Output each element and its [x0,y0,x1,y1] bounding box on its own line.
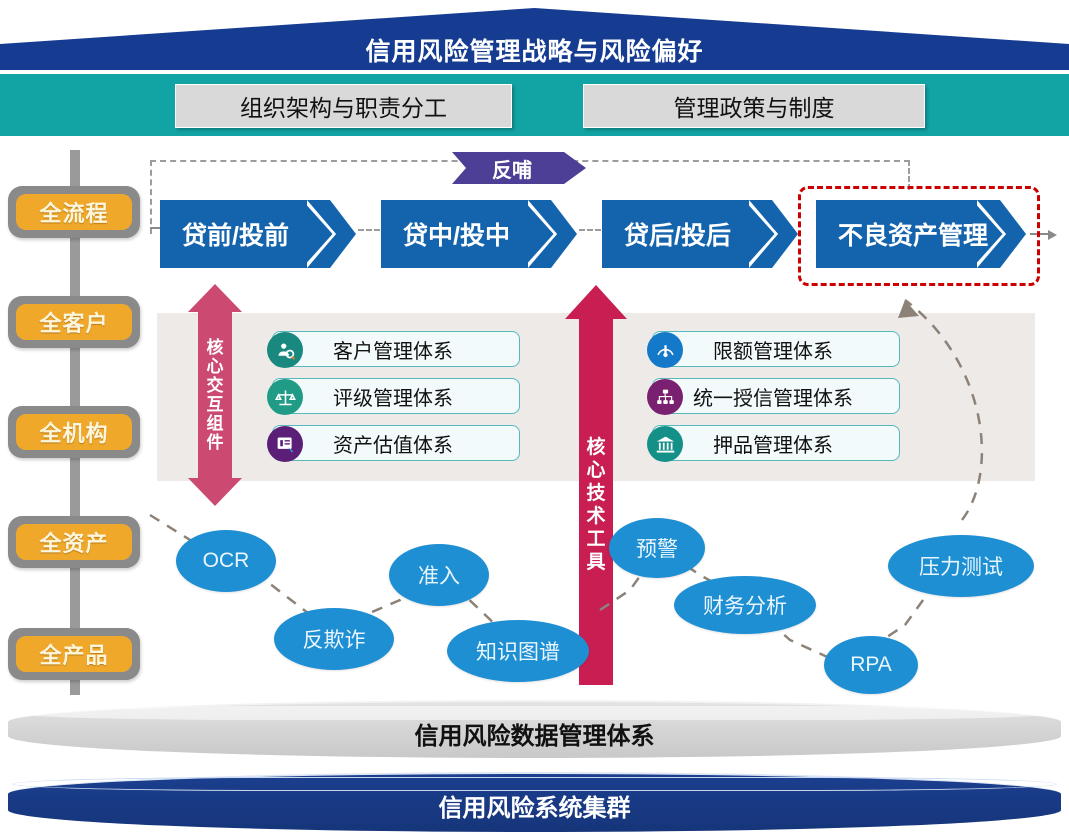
document-valuation-icon [267,426,303,462]
component-limit-management[interactable]: 限额管理体系 [652,331,900,367]
strategy-roof: 信用风险管理战略与风险偏好 [0,8,1069,70]
flow-stage-during-lending[interactable]: 贷中/投中 [381,200,577,268]
chevron-notch-icon [749,200,778,268]
component-label: 押品管理体系 [653,429,899,458]
roof-title: 信用风险管理战略与风险偏好 [0,32,1069,68]
governance-box-policy[interactable]: 管理政策与制度 [583,84,925,128]
tech-tool-stress-test[interactable]: 压力测试 [888,535,1034,597]
flow-stage-post-lending[interactable]: 贷后/投后 [602,200,798,268]
component-label: 客户管理体系 [273,335,519,364]
scales-balance-icon [267,379,303,415]
side-badge-institution[interactable]: 全机构 [8,406,140,458]
flow-connector [579,229,601,231]
core-interaction-arrow-label: 核 心 交 互 组 件 [188,314,242,476]
system-cluster-layer: 信用风险系统集群 [8,772,1061,832]
tech-tool-early-warning[interactable]: 预警 [609,518,705,578]
side-badge-label: 全机构 [16,414,132,450]
core-technology-arrow: 核 心 技 术 工 具 [565,285,627,685]
component-label: 统一授信管理体系 [653,382,899,411]
arrow-head-down-icon [188,478,242,506]
arrow-head-up-icon [188,284,242,312]
feedback-banner-tip [564,152,586,184]
side-badge-label: 全产品 [16,636,132,672]
feedback-banner: 反哺 [452,152,564,184]
tech-tool-ocr[interactable]: OCR [176,530,276,592]
flow-stage-label: 贷前/投前 [182,216,289,252]
flow-stage-label: 贷后/投后 [624,216,731,252]
core-interaction-arrow: 核 心 交 互 组 件 [188,284,242,506]
feedback-banner-label: 反哺 [492,154,532,183]
side-badge-process[interactable]: 全流程 [8,186,140,238]
component-unified-credit[interactable]: 统一授信管理体系 [652,378,900,414]
flow-stage-label: 贷中/投中 [403,216,510,252]
side-badge-label: 全流程 [16,194,132,230]
side-badge-asset[interactable]: 全资产 [8,516,140,568]
bank-building-icon [647,426,683,462]
system-cluster-layer-label: 信用风险系统集群 [8,788,1061,823]
component-label: 限额管理体系 [653,335,899,364]
tech-tool-knowledge-graph[interactable]: 知识图谱 [447,620,589,682]
arrow-head-up-icon [565,285,627,319]
side-badge-label: 全资产 [16,524,132,560]
component-asset-valuation[interactable]: 资产估值体系 [272,425,520,461]
org-chart-icon [647,379,683,415]
flow-stage-pre-lending[interactable]: 贷前/投前 [160,200,356,268]
component-customer-management[interactable]: 客户管理体系 [272,331,520,367]
chevron-notch-icon [307,200,336,268]
npa-highlight-outline [798,186,1040,286]
diagram-canvas: 信用风险管理战略与风险偏好 组织架构与职责分工 管理政策与制度 全流程 全客户 … [0,0,1069,840]
feedback-loop-left [150,160,152,234]
side-badge-customer[interactable]: 全客户 [8,296,140,348]
customer-magnifier-icon [267,332,303,368]
tech-tool-rpa[interactable]: RPA [824,636,918,694]
gauge-meter-icon [647,332,683,368]
component-collateral-management[interactable]: 押品管理体系 [652,425,900,461]
tech-tool-admission[interactable]: 准入 [389,544,489,606]
core-technology-arrow-label: 核 心 技 术 工 具 [565,335,627,675]
flow-connector [358,229,380,231]
governance-box-organization[interactable]: 组织架构与职责分工 [175,84,512,128]
tech-tool-financial-analysis[interactable]: 财务分析 [674,576,816,634]
side-badge-product[interactable]: 全产品 [8,628,140,680]
side-badge-label: 全客户 [16,304,132,340]
data-management-layer: 信用风险数据管理体系 [8,700,1061,758]
component-label: 评级管理体系 [273,382,519,411]
component-label: 资产估值体系 [273,429,519,458]
tech-tool-antifraud[interactable]: 反欺诈 [274,608,394,670]
data-management-layer-label: 信用风险数据管理体系 [8,716,1061,751]
chevron-notch-icon [528,200,557,268]
component-rating-management[interactable]: 评级管理体系 [272,378,520,414]
